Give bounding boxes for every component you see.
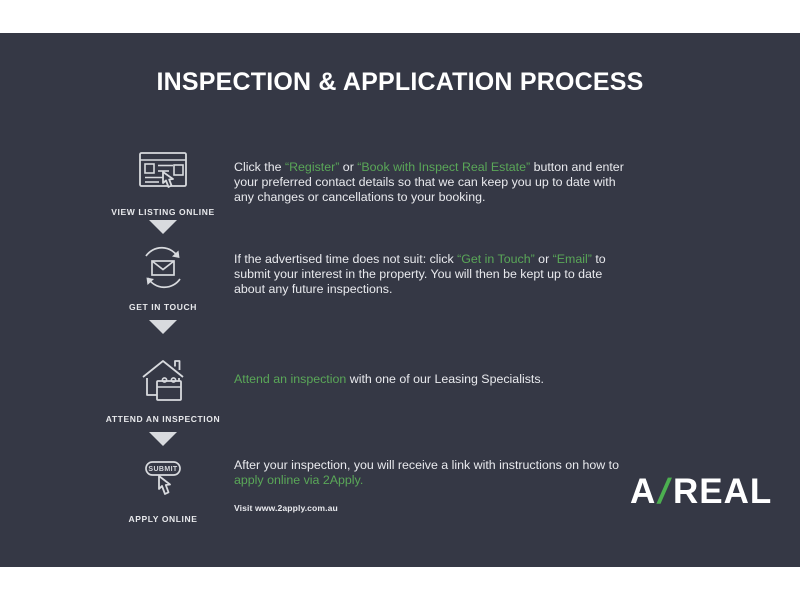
step-2-link-email[interactable]: “Email” (553, 252, 592, 266)
step-3-icon-column: ATTEND AN INSPECTION (90, 352, 236, 424)
step-3-link-attend-an-inspection[interactable]: Attend an inspection (234, 372, 346, 386)
step-4-text-part-1: After your inspection, you will receive … (234, 458, 619, 472)
svg-text:SUBMIT: SUBMIT (148, 466, 178, 473)
envelope-refresh-icon (90, 240, 236, 296)
step-2-label: GET IN TOUCH (90, 302, 236, 312)
step-3-text-part-1: with one of our Leasing Specialists. (346, 372, 544, 386)
step-1-link-book-with-inspect-real-estate[interactable]: “Book with Inspect Real Estate” (357, 160, 530, 174)
step-1-text-part-2: or (339, 160, 357, 174)
logo-text-part-2: REAL (673, 472, 772, 511)
step-1-link-register[interactable]: “Register” (285, 160, 339, 174)
step-2-body: If the advertised time does not suit: cl… (234, 252, 634, 298)
step-2-link-get-in-touch[interactable]: “Get in Touch” (457, 252, 535, 266)
step-1-label: VIEW LISTING ONLINE (90, 207, 236, 217)
step-4-label: APPLY ONLINE (90, 514, 236, 524)
step-1-text-part-1: Click the (234, 160, 285, 174)
step-4-body: After your inspection, you will receive … (234, 458, 634, 517)
step-2-text-part-1: If the advertised time does not suit: cl… (234, 252, 457, 266)
step-4-link-apply-online-via-2apply[interactable]: apply online via 2Apply. (234, 473, 363, 487)
step-3-label: ATTEND AN INSPECTION (90, 414, 236, 424)
step-4-icon-column: SUBMIT APPLY ONLINE (90, 452, 236, 524)
step-4-paragraph: After your inspection, you will receive … (234, 458, 634, 488)
submit-button-cursor-icon: SUBMIT (90, 452, 236, 508)
house-calendar-icon (90, 352, 236, 408)
slide-canvas: INSPECTION & APPLICATION PROCESS VIEW LI… (0, 0, 800, 600)
listing-window-cursor-icon (90, 145, 236, 201)
step-1-body: Click the “Register” or “Book with Inspe… (234, 160, 634, 206)
page-title: INSPECTION & APPLICATION PROCESS (0, 68, 800, 97)
step-1-icon-column: VIEW LISTING ONLINE (90, 145, 236, 217)
step-2-text-part-2: or (535, 252, 553, 266)
step-3-body: Attend an inspection with one of our Lea… (234, 372, 634, 387)
step-2-icon-column: GET IN TOUCH (90, 240, 236, 312)
step-4-footnote: Visit www.2apply.com.au (234, 501, 634, 516)
brand-logo: A/REAL (630, 472, 772, 512)
